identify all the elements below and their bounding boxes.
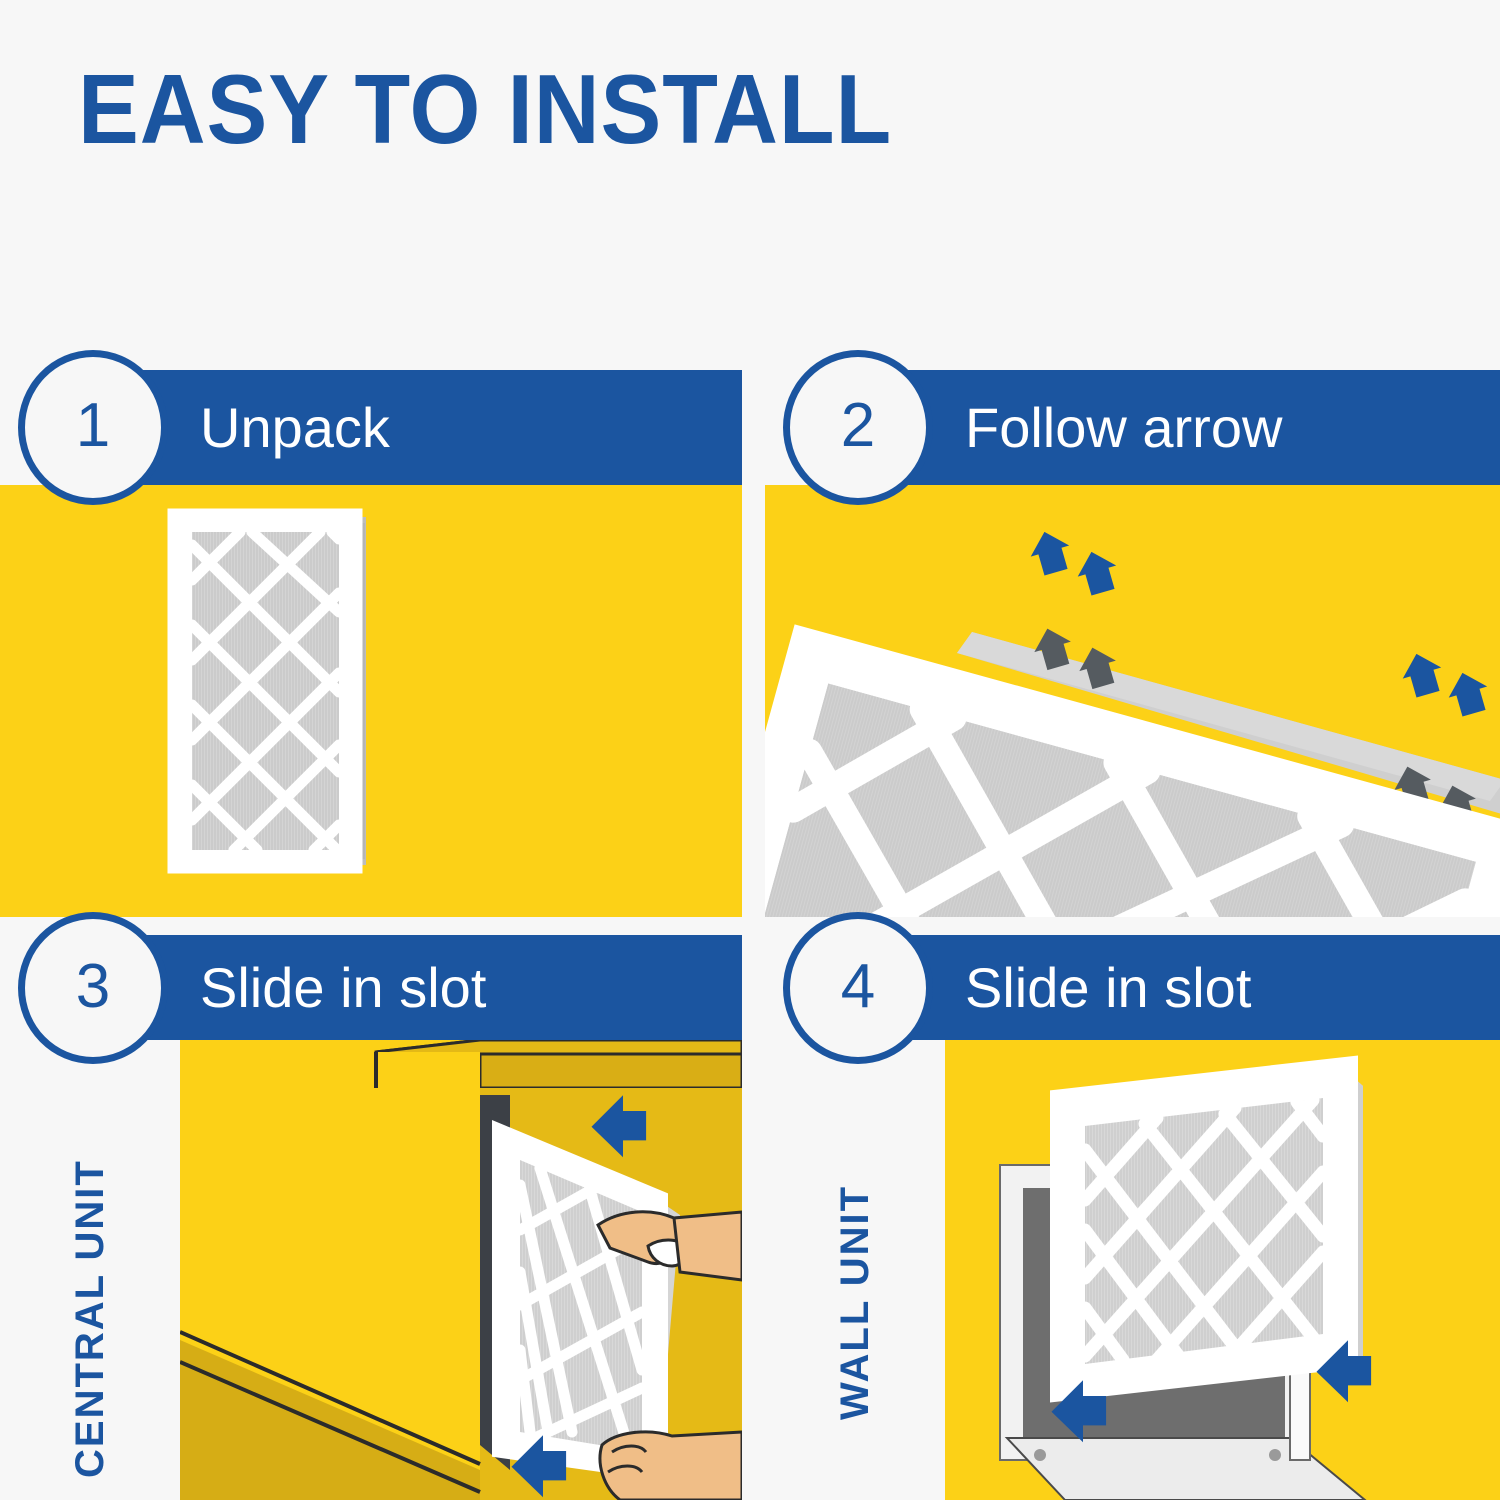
screw-right xyxy=(1269,1449,1281,1461)
hand-lower xyxy=(600,1432,742,1500)
step-2-illustration-area xyxy=(765,485,1500,917)
step-2-number: 2 xyxy=(841,395,875,457)
flat-filter-illustration xyxy=(0,485,742,917)
step-1-header: Unpack xyxy=(80,370,742,485)
central-unit-illustration xyxy=(180,1040,742,1500)
infographic-root: EASY TO INSTALL xyxy=(0,0,1500,1500)
step-2-label: Follow arrow xyxy=(965,400,1282,456)
step-3-badge: 3 xyxy=(18,912,168,1064)
step-4-illustration-area xyxy=(945,1040,1500,1500)
blue-airflow-arrow-group-right xyxy=(1397,648,1493,718)
step-2-header: Follow arrow xyxy=(845,370,1500,485)
step-2-badge: 2 xyxy=(783,350,933,505)
step-4-number: 4 xyxy=(841,956,875,1018)
step-1-illustration-area xyxy=(0,485,742,917)
step-4-header: Slide in slot xyxy=(845,935,1500,1040)
step-4-side-label: WALL UNIT xyxy=(835,1185,875,1420)
tilted-filter-illustration xyxy=(765,485,1500,917)
screw-left xyxy=(1034,1449,1046,1461)
step-3-label: Slide in slot xyxy=(200,960,486,1016)
step-1-number: 1 xyxy=(76,395,110,457)
filter-in-wall-unit xyxy=(1063,1070,1363,1388)
step-3-number: 3 xyxy=(76,956,110,1018)
step-3-side-label: CENTRAL UNIT xyxy=(70,1159,110,1478)
step-3-header: Slide in slot xyxy=(80,935,742,1040)
grille-door xyxy=(1007,1438,1365,1500)
step-1-label: Unpack xyxy=(200,400,390,456)
step-1-badge: 1 xyxy=(18,350,168,505)
blue-airflow-arrow-group-left xyxy=(1025,526,1122,597)
wall-unit-illustration xyxy=(945,1040,1500,1500)
step-4-label: Slide in slot xyxy=(965,960,1251,1016)
step-3-illustration-area xyxy=(180,1040,742,1500)
step-4-badge: 4 xyxy=(783,912,933,1064)
